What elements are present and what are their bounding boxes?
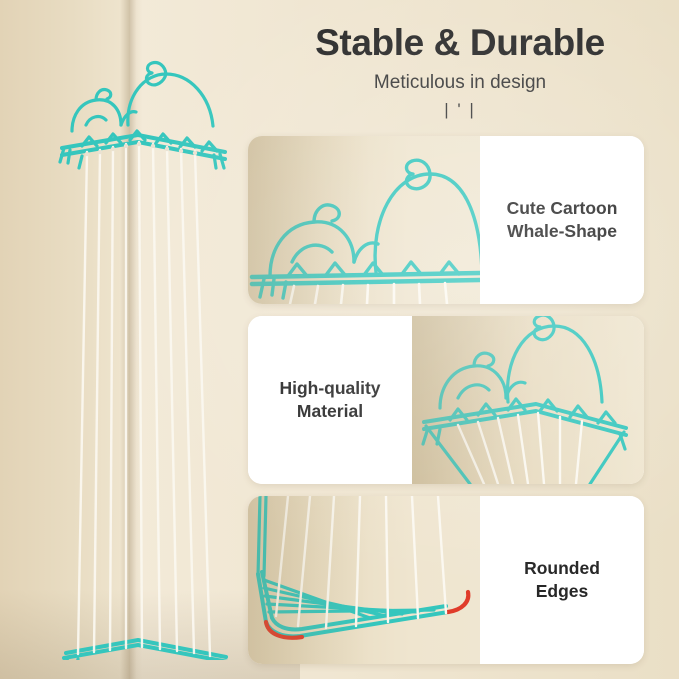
feature-label-line2: Material	[279, 400, 380, 423]
headline-block: Stable & Durable Meticulous in design | …	[250, 22, 670, 120]
product-drawing	[20, 30, 250, 660]
feature-textpane-rounded-edges: Rounded Edges	[480, 496, 644, 664]
feature-card-cute-cartoon-whale-shape: Cute Cartoon Whale-Shape	[248, 136, 644, 304]
feature-photo-whale-shape	[248, 136, 480, 304]
feature-textpane-whale-shape: Cute Cartoon Whale-Shape	[480, 136, 644, 304]
product-photo-main	[20, 30, 250, 660]
feature-label-line1: Rounded	[524, 557, 600, 580]
feature-label-material: High-quality Material	[269, 377, 390, 423]
headline-divider: | ' |	[250, 100, 670, 120]
feature-card-rounded-edges: Rounded Edges	[248, 496, 644, 664]
feature-photo-rounded-edges	[248, 496, 480, 664]
feature-label-line2: Edges	[524, 580, 600, 603]
feature-label-whale-shape: Cute Cartoon Whale-Shape	[497, 197, 628, 243]
page-subtitle: Meticulous in design	[250, 72, 670, 94]
feature-textpane-material: High-quality Material	[248, 316, 412, 484]
material-angle-drawing	[412, 316, 644, 484]
feature-label-line1: Cute Cartoon	[507, 197, 618, 220]
page-title: Stable & Durable	[250, 22, 670, 64]
feature-label-rounded-edges: Rounded Edges	[514, 557, 610, 603]
feature-label-line1: High-quality	[279, 377, 380, 400]
product-infographic: Stable & Durable Meticulous in design | …	[0, 0, 679, 679]
feature-photo-material	[412, 316, 644, 484]
feature-card-high-quality-material: High-quality Material	[248, 316, 644, 484]
rounded-edge-closeup-drawing	[248, 496, 480, 664]
whale-shape-closeup-drawing	[248, 136, 480, 304]
feature-label-line2: Whale-Shape	[507, 220, 618, 243]
